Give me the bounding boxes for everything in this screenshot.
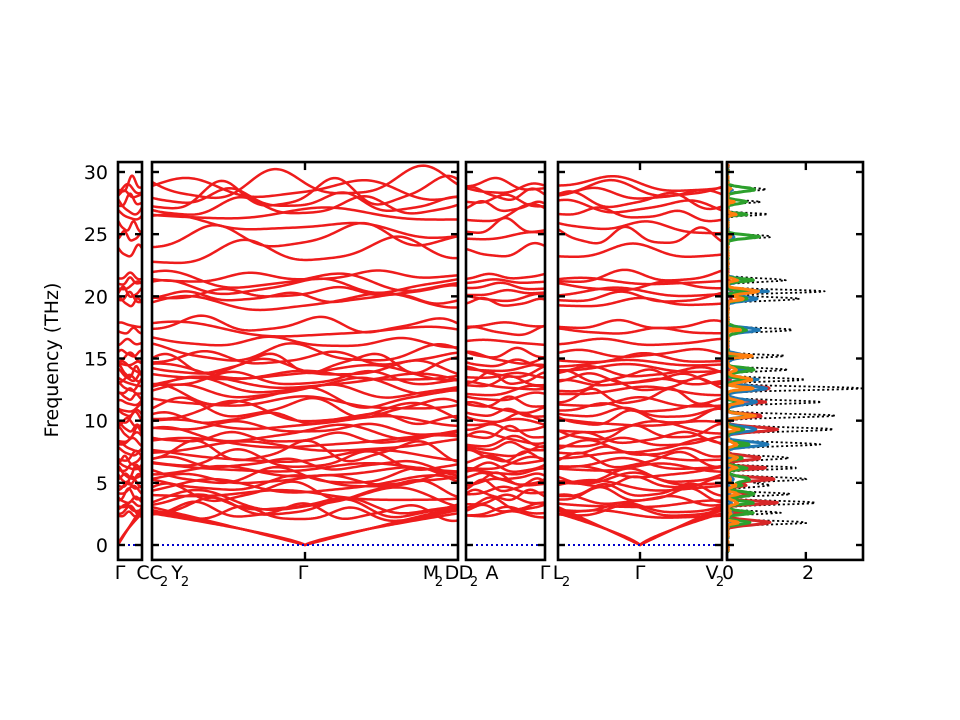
x-tick-label: A: [486, 562, 499, 584]
x-tick-label-text: Γ: [635, 562, 646, 584]
y-tick-label: 5: [96, 473, 108, 495]
x-tick-label-text: Γ: [115, 562, 126, 584]
y-tick-label: 0: [96, 535, 108, 557]
y-tick-label: 20: [84, 286, 108, 308]
y-tick-label: 10: [84, 411, 108, 433]
y-axis-label: Frequency (THz): [41, 283, 63, 438]
x-tick-label-subscript: 2: [435, 575, 443, 590]
y-tick-label: 25: [84, 224, 108, 246]
x-tick-label-text: Γ: [298, 562, 309, 584]
x-tick-label: 0: [722, 562, 734, 584]
phonon-figure: Frequency (THz) 051015202530 ΓCC2Y2ΓM2DD…: [0, 0, 960, 720]
x-tick-label-text: D: [445, 562, 460, 584]
y-tick-label: 15: [84, 349, 108, 371]
x-tick-label-subscript: 2: [470, 575, 478, 590]
x-tick-label-text: C: [136, 562, 149, 584]
x-tick-label-text: 0: [722, 562, 734, 584]
x-tick-label: C: [136, 562, 149, 584]
x-tick-label-subscript: 2: [181, 575, 189, 590]
x-tick-label: Γ: [635, 562, 646, 584]
x-tick-label: D: [445, 562, 460, 584]
y-tick-label: 30: [84, 162, 108, 184]
x-tick-label: 2: [802, 562, 814, 584]
x-tick-label: Γ: [115, 562, 126, 584]
x-tick-label-subscript: 2: [562, 575, 570, 590]
x-tick-label: Γ: [540, 562, 551, 584]
x-tick-label-text: Γ: [540, 562, 551, 584]
x-tick-label-subscript: 2: [160, 575, 168, 590]
y-axis-label-text: Frequency (THz): [41, 283, 63, 438]
x-tick-label-text: 2: [802, 562, 814, 584]
figure-background: [0, 0, 960, 720]
x-tick-label: Γ: [298, 562, 309, 584]
x-tick-label-text: A: [486, 562, 499, 584]
plot-canvas: Frequency (THz) 051015202530 ΓCC2Y2ΓM2DD…: [0, 0, 960, 720]
